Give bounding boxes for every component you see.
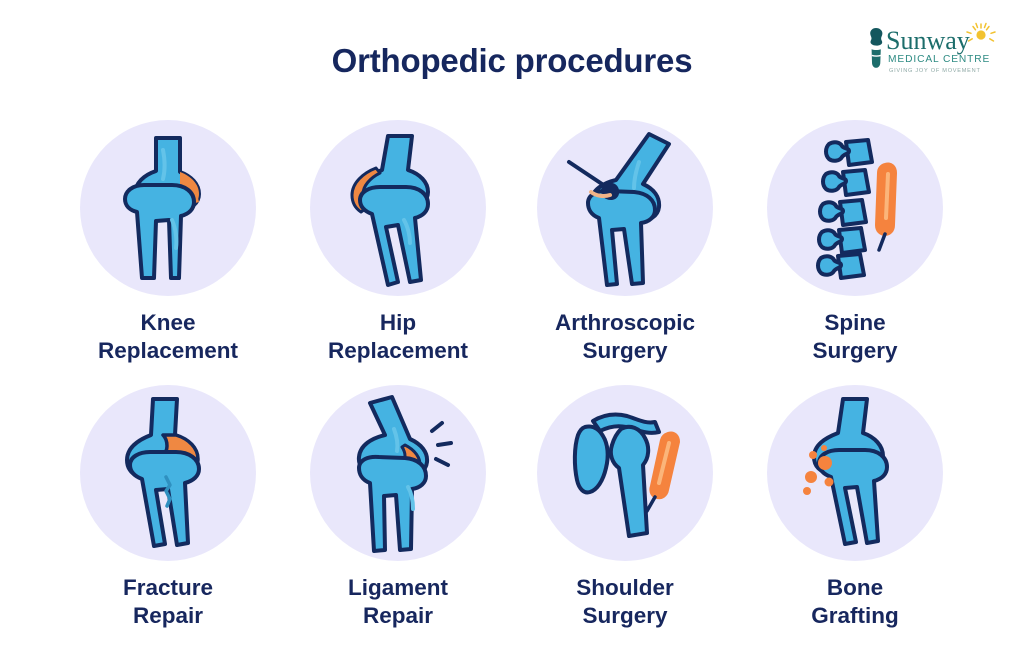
procedure-card-knee-replacement[interactable]: Knee Replacement: [53, 120, 283, 366]
procedure-label: Ligament Repair: [283, 574, 513, 631]
arthroscope-joint-icon: [537, 120, 713, 296]
svg-text:GIVING JOY OF MOVEMENT: GIVING JOY OF MOVEMENT: [889, 68, 981, 74]
surgical-tool-icon: [647, 432, 679, 511]
knee-joint-icon: [80, 120, 256, 296]
logo-sunburst-icon: [967, 24, 995, 42]
icon-badge: [537, 120, 713, 296]
procedure-card-shoulder-surgery[interactable]: Shoulder Surgery: [510, 385, 740, 631]
icon-badge: [310, 120, 486, 296]
procedure-label: Hip Replacement: [283, 309, 513, 366]
procedure-card-hip-replacement[interactable]: Hip Replacement: [283, 120, 513, 366]
icon-badge: [537, 385, 713, 561]
procedure-label: Shoulder Surgery: [510, 574, 740, 631]
icon-badge: [310, 385, 486, 561]
header: Orthopedic procedures: [0, 0, 1024, 110]
svg-text:MEDICAL CENTRE: MEDICAL CENTRE: [888, 54, 990, 65]
procedure-card-ligament-repair[interactable]: Ligament Repair: [283, 385, 513, 631]
procedure-card-spine-surgery[interactable]: Spine Surgery: [740, 120, 970, 366]
procedure-label: Fracture Repair: [53, 574, 283, 631]
icon-badge: [80, 385, 256, 561]
spine-vertebrae-icon: [767, 120, 943, 296]
icon-badge: [80, 120, 256, 296]
procedures-grid: Knee Replacement Hip Replacement: [0, 110, 1024, 671]
hip-joint-icon: [310, 120, 486, 296]
bone-graft-particles-icon: [767, 385, 943, 561]
procedure-label: Knee Replacement: [53, 309, 283, 366]
icon-badge: [767, 385, 943, 561]
pain-lines-icon: [432, 423, 451, 465]
shoulder-joint-icon: [537, 385, 713, 561]
procedure-label: Spine Surgery: [740, 309, 970, 366]
ligament-pain-joint-icon: [310, 385, 486, 561]
procedure-card-bone-grafting[interactable]: Bone Grafting: [740, 385, 970, 631]
surgical-tool-icon: [876, 163, 896, 250]
svg-text:Sunway: Sunway: [886, 26, 970, 55]
procedure-card-fracture-repair[interactable]: Fracture Repair: [53, 385, 283, 631]
icon-badge: [767, 120, 943, 296]
sunway-medical-centre-logo: Sunway MEDICAL CENTRE GIVING JOY OF MOVE…: [860, 22, 1002, 82]
procedure-label: Arthroscopic Surgery: [510, 309, 740, 366]
procedure-card-arthroscopic-surgery[interactable]: Arthroscopic Surgery: [510, 120, 740, 366]
fractured-joint-icon: [80, 385, 256, 561]
procedure-label: Bone Grafting: [740, 574, 970, 631]
logo-bone-joint-icon: [870, 28, 882, 68]
